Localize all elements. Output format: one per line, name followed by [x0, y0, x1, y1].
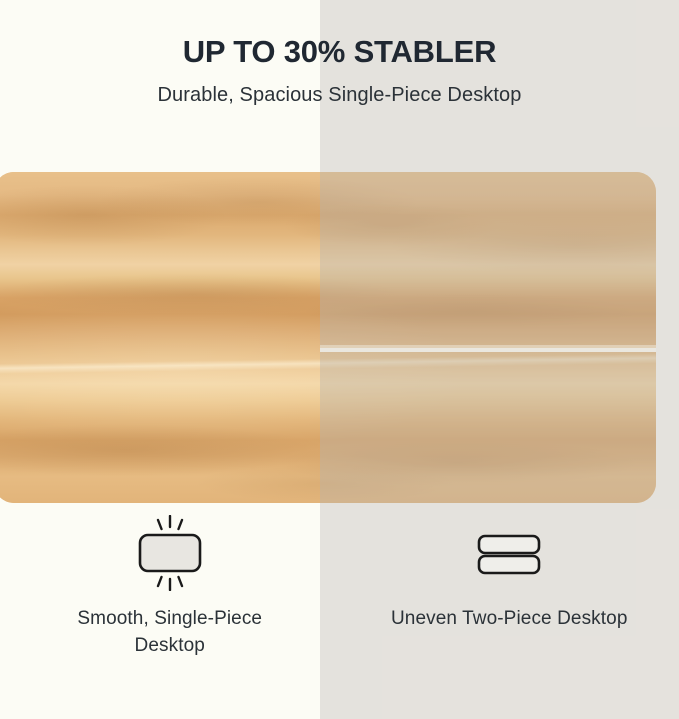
wood-grain-figure [0, 172, 656, 503]
single-piece-desktop-icon [124, 515, 216, 591]
page-subtitle: Durable, Spacious Single-Piece Desktop [0, 70, 679, 107]
comparison-row: Smooth, Single-Piece Desktop Uneven Two-… [0, 503, 679, 719]
desktop-surface-shape [140, 535, 200, 571]
desktop-seam-line [320, 348, 656, 352]
single-piece-caption: Smooth, Single-Piece Desktop [40, 589, 300, 659]
sparkle-lines-top [158, 516, 182, 529]
desktop-bottom-half-shape [479, 556, 539, 573]
header: UP TO 30% STABLER Durable, Spacious Sing… [0, 0, 679, 107]
two-piece-caption: Uneven Two-Piece Desktop [391, 589, 628, 632]
desktop-top-half-shape [479, 536, 539, 553]
wood-desktop-panel [0, 172, 656, 503]
comparison-column-right: Uneven Two-Piece Desktop [340, 503, 679, 719]
single-piece-icon-container [124, 503, 216, 589]
comparison-column-left: Smooth, Single-Piece Desktop [0, 503, 340, 719]
page-title: UP TO 30% STABLER [0, 0, 679, 70]
two-piece-icon-container [463, 503, 555, 589]
two-piece-desktop-icon [463, 515, 555, 591]
comparison-infographic: UP TO 30% STABLER Durable, Spacious Sing… [0, 0, 679, 719]
